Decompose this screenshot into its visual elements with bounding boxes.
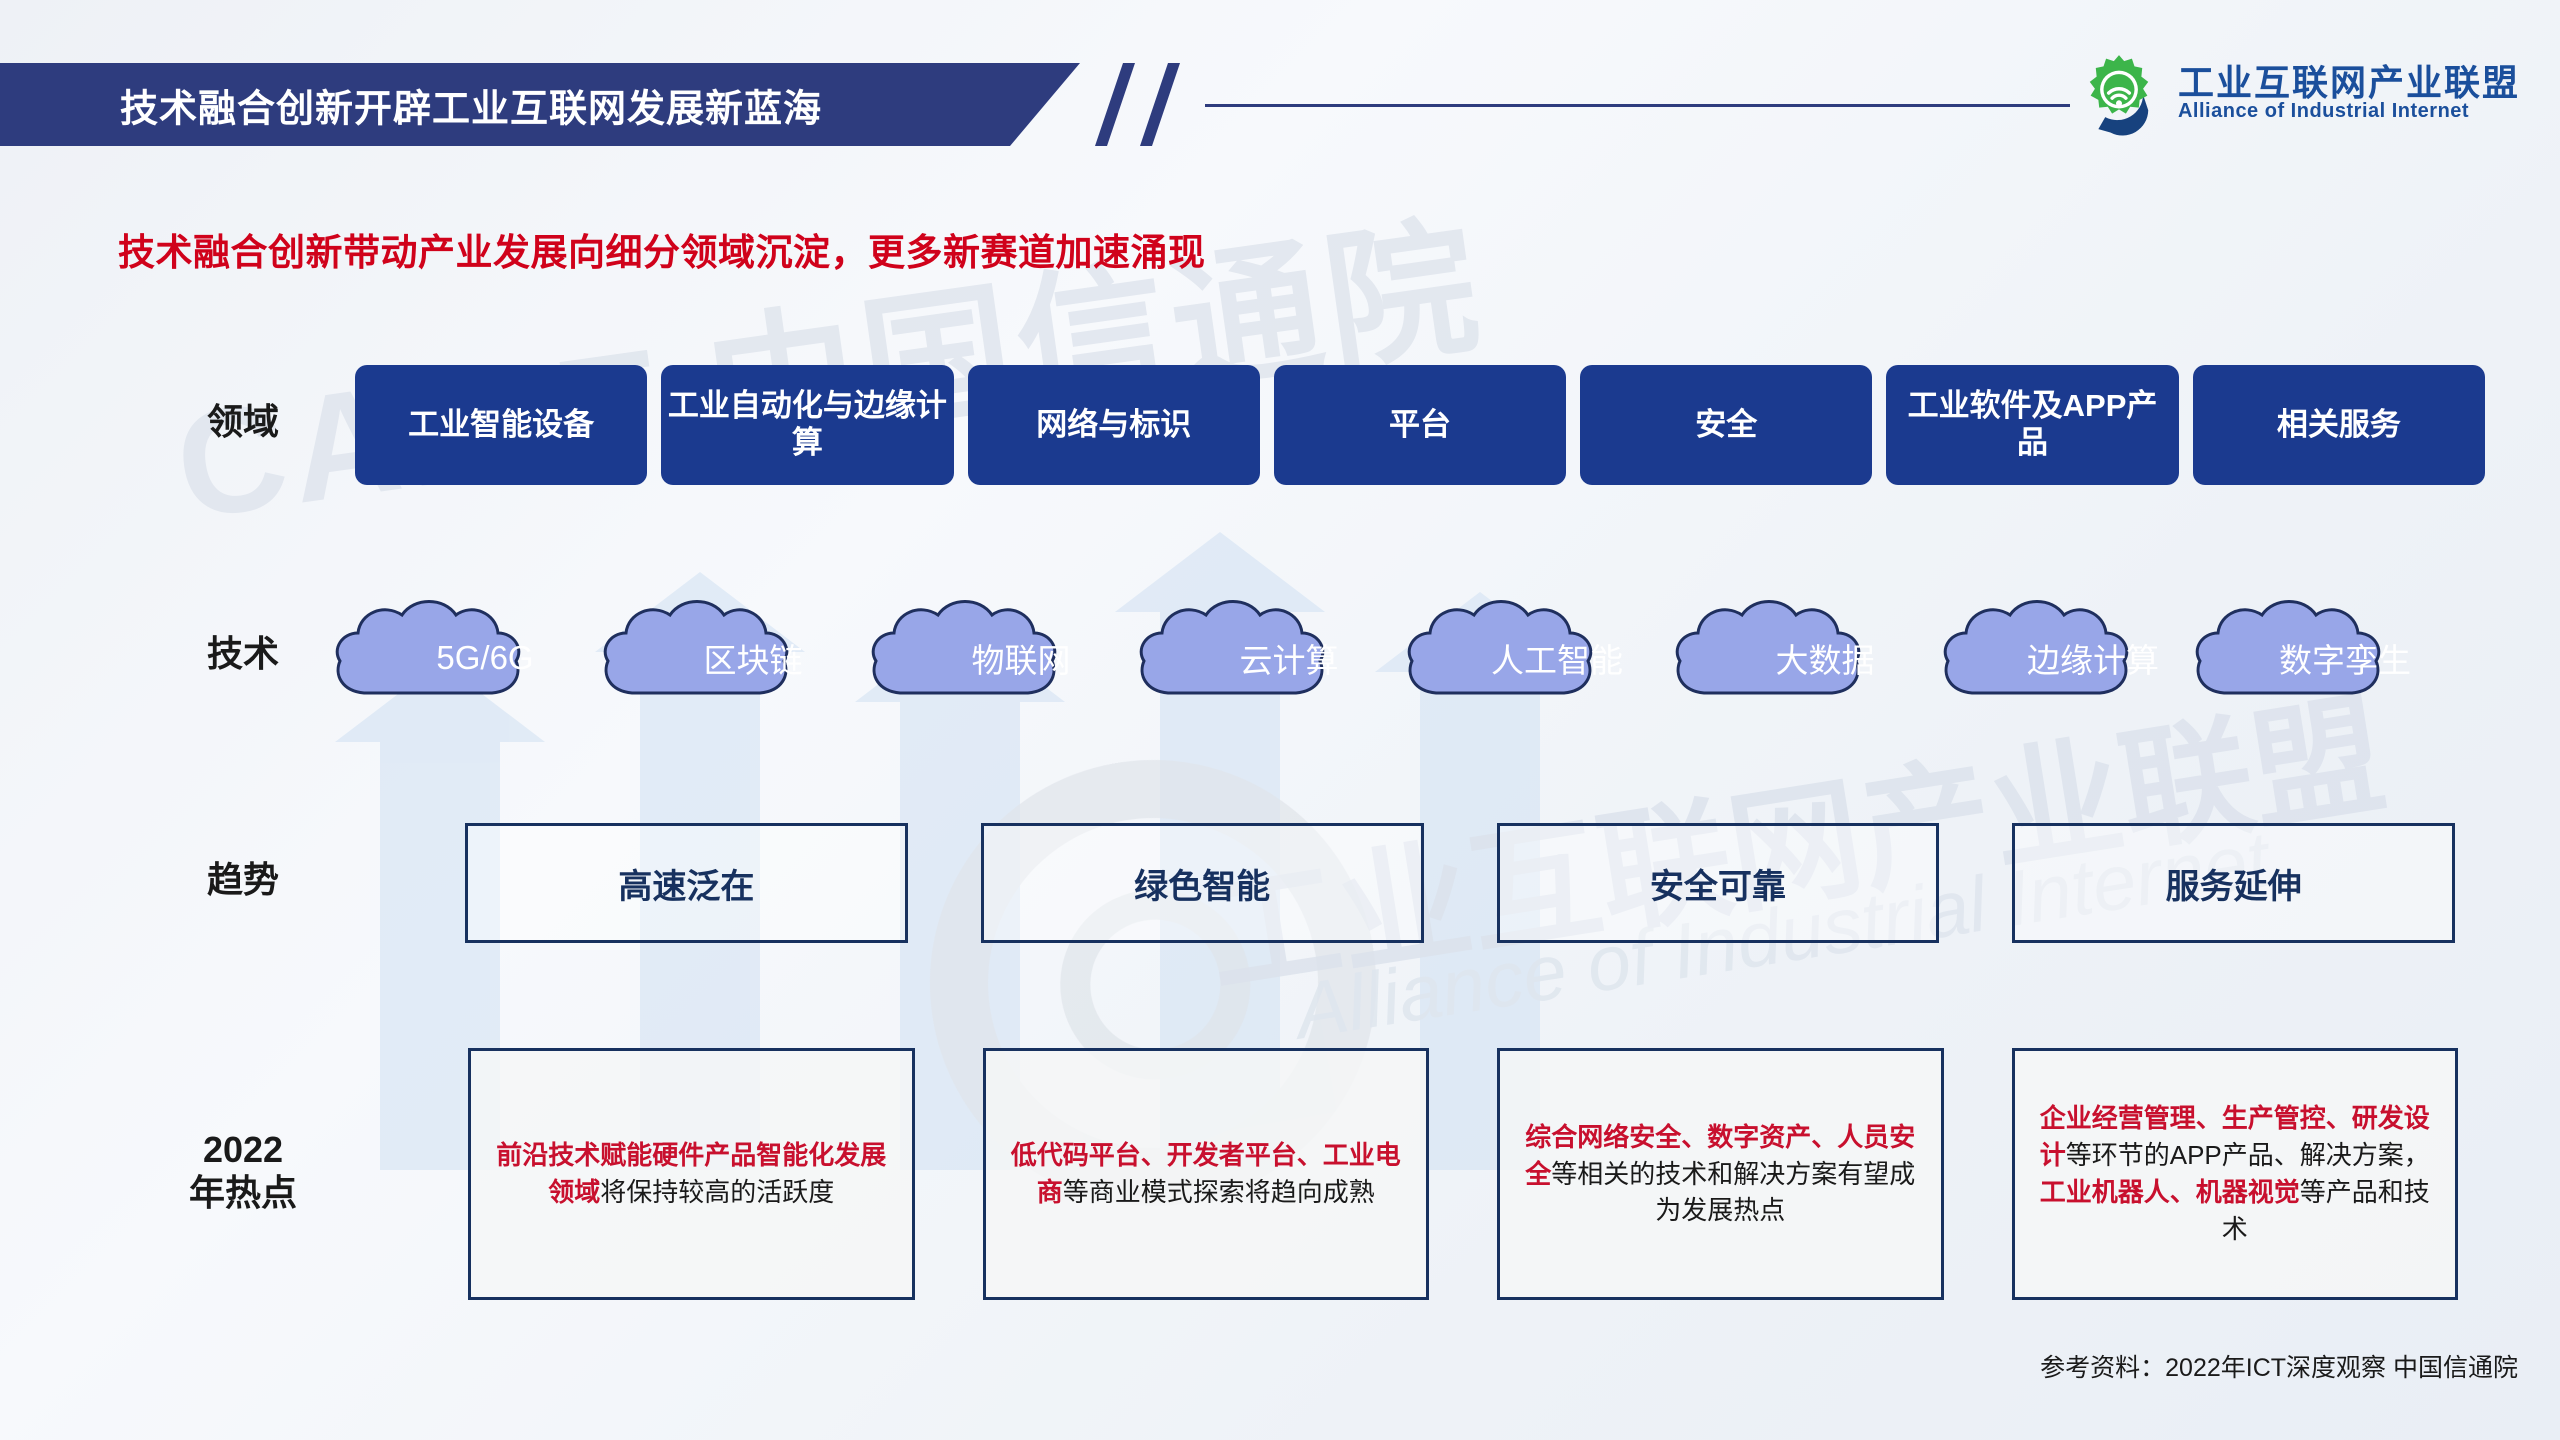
technology-cloud-5[interactable]: 人工智能 bbox=[1402, 595, 1712, 720]
row-label-hotspot-year: 2022 bbox=[148, 1128, 338, 1171]
gear-wifi-icon bbox=[2076, 50, 2162, 136]
hotspot-text-2: 低代码平台、开发者平台、工业电商等商业模式探索将趋向成熟 bbox=[1002, 1137, 1411, 1211]
hotspot-text-4: 企业经营管理、生产管控、研发设计等环节的APP产品、解决方案，工业机器人、机器视… bbox=[2031, 1100, 2440, 1248]
hotspot-text-1: 前沿技术赋能硬件产品智能化发展领域将保持较高的活跃度 bbox=[487, 1137, 896, 1211]
technology-cloud-label-6: 大数据 bbox=[1670, 595, 1980, 720]
technology-cloud-4[interactable]: 云计算 bbox=[1134, 595, 1444, 720]
technology-cloud-label-2: 区块链 bbox=[598, 595, 908, 720]
row-label-hotspot: 2022 年热点 bbox=[148, 1128, 338, 1214]
technology-cloud-row: 5G/6G 区块链 物联网 云计算 人工智能 大数据 边缘计算 数字孪生 bbox=[330, 595, 2500, 725]
technology-cloud-label-8: 数字孪生 bbox=[2190, 595, 2500, 720]
hotspot-box-2[interactable]: 低代码平台、开发者平台、工业电商等商业模式探索将趋向成熟 bbox=[983, 1048, 1430, 1300]
domain-box-2[interactable]: 工业自动化与边缘计算 bbox=[661, 365, 953, 485]
header-banner: 技术融合创新开辟工业互联网发展新蓝海 bbox=[0, 63, 1180, 146]
trend-box-3[interactable]: 安全可靠 bbox=[1497, 823, 1940, 943]
hotspot-highlight-4b: 工业机器人、机器视觉 bbox=[2040, 1177, 2300, 1207]
hotspot-plain-3: 等相关的技术和解决方案有望成为发展热点 bbox=[1551, 1159, 1915, 1226]
hotspot-text-3: 综合网络安全、数字资产、人员安全等相关的技术和解决方案有望成为发展热点 bbox=[1516, 1119, 1925, 1230]
domain-box-1[interactable]: 工业智能设备 bbox=[355, 365, 647, 485]
trend-box-row: 高速泛在 绿色智能 安全可靠 服务延伸 bbox=[465, 823, 2455, 943]
alliance-logo: 工业互联网产业联盟 Alliance of Industrial Interne… bbox=[2076, 50, 2520, 136]
section-subtitle: 技术融合创新带动产业发展向细分领域沉淀，更多新赛道加速涌现 bbox=[118, 222, 1206, 276]
domain-box-5[interactable]: 安全 bbox=[1580, 365, 1872, 485]
technology-cloud-6[interactable]: 大数据 bbox=[1670, 595, 1980, 720]
trend-box-2[interactable]: 绿色智能 bbox=[981, 823, 1424, 943]
domain-box-3[interactable]: 网络与标识 bbox=[968, 365, 1260, 485]
header-slash-decoration bbox=[1095, 63, 1135, 146]
technology-cloud-8[interactable]: 数字孪生 bbox=[2190, 595, 2500, 720]
row-label-trend: 趋势 bbox=[148, 858, 338, 901]
hotspot-plain-2: 等商业模式探索将趋向成熟 bbox=[1063, 1177, 1375, 1207]
technology-cloud-3[interactable]: 物联网 bbox=[866, 595, 1176, 720]
hotspot-box-3[interactable]: 综合网络安全、数字资产、人员安全等相关的技术和解决方案有望成为发展热点 bbox=[1497, 1048, 1944, 1300]
technology-cloud-label-3: 物联网 bbox=[866, 595, 1176, 720]
hotspot-box-row: 前沿技术赋能硬件产品智能化发展领域将保持较高的活跃度 低代码平台、开发者平台、工… bbox=[468, 1048, 2458, 1300]
header-slash-decoration bbox=[1140, 63, 1180, 146]
technology-cloud-label-5: 人工智能 bbox=[1402, 595, 1712, 720]
header-divider-line bbox=[1205, 104, 2070, 107]
technology-cloud-label-1: 5G/6G bbox=[330, 595, 640, 720]
technology-cloud-label-4: 云计算 bbox=[1134, 595, 1444, 720]
hotspot-plain-4a: 等环节的APP产品、解决方案， bbox=[2066, 1140, 2430, 1170]
domain-box-6[interactable]: 工业软件及APP产品 bbox=[1886, 365, 2178, 485]
row-label-domain: 领域 bbox=[148, 400, 338, 443]
domain-box-4[interactable]: 平台 bbox=[1274, 365, 1566, 485]
logo-name-en: Alliance of Industrial Internet bbox=[2178, 101, 2520, 122]
logo-name-cn: 工业互联网产业联盟 bbox=[2178, 64, 2520, 102]
hotspot-box-4[interactable]: 企业经营管理、生产管控、研发设计等环节的APP产品、解决方案，工业机器人、机器视… bbox=[2012, 1048, 2459, 1300]
hotspot-plain-1: 将保持较高的活跃度 bbox=[600, 1177, 834, 1207]
row-label-hotspot-text: 年热点 bbox=[148, 1171, 338, 1214]
page-title: 技术融合创新开辟工业互联网发展新蓝海 bbox=[120, 77, 822, 132]
trend-box-1[interactable]: 高速泛在 bbox=[465, 823, 908, 943]
trend-box-4[interactable]: 服务延伸 bbox=[2012, 823, 2455, 943]
hotspot-box-1[interactable]: 前沿技术赋能硬件产品智能化发展领域将保持较高的活跃度 bbox=[468, 1048, 915, 1300]
technology-cloud-1[interactable]: 5G/6G bbox=[330, 595, 640, 720]
logo-text-block: 工业互联网产业联盟 Alliance of Industrial Interne… bbox=[2178, 64, 2520, 123]
domain-box-7[interactable]: 相关服务 bbox=[2193, 365, 2485, 485]
source-note: 参考资料：2022年ICT深度观察 中国信通院 bbox=[2040, 1348, 2518, 1384]
domain-box-row: 工业智能设备 工业自动化与边缘计算 网络与标识 平台 安全 工业软件及APP产品… bbox=[355, 365, 2485, 485]
row-label-technology: 技术 bbox=[148, 632, 338, 675]
technology-cloud-2[interactable]: 区块链 bbox=[598, 595, 908, 720]
